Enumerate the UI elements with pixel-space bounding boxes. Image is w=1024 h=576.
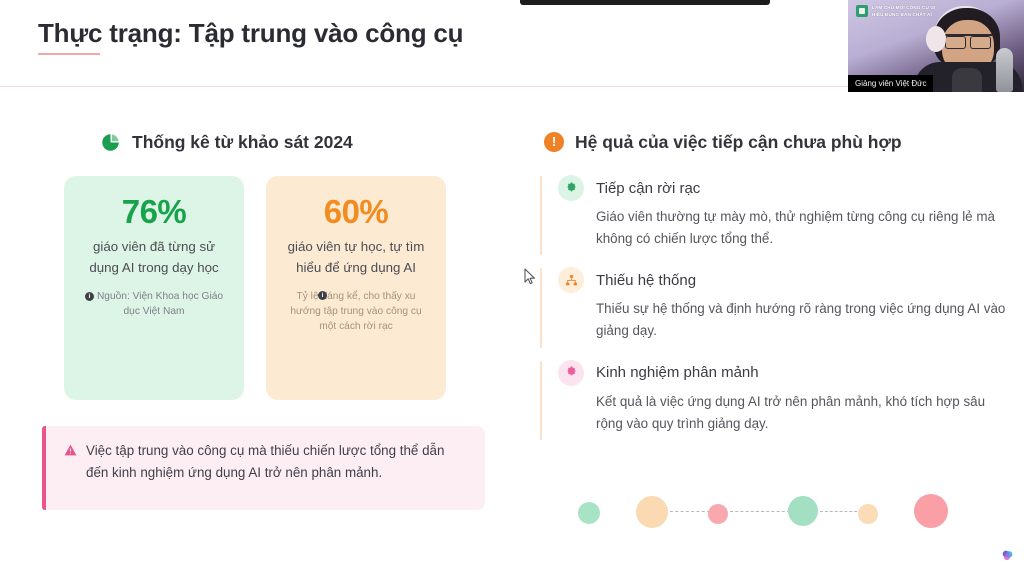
page-title: Thực trạng: Tập trung vào công cụ [38,18,463,55]
list-item-desc: Kết quả là việc ứng dụng AI trở nên phân… [596,391,1006,434]
presenter-name: Giảng viên Việt Đức [855,79,926,88]
mouse-pointer-icon [524,268,536,286]
app-logo-icon [856,5,868,17]
list-item: Kinh nghiệm phân mảnh Kết quả là việc ứn… [540,359,1006,434]
right-column: ! Hệ quả của việc tiếp cận chưa phù hợp … [536,122,1006,451]
stat-card-self-learning: 60% giáo viên tự học, tự tìm hiểu để ứng… [266,176,446,400]
left-column: Thống kê từ khảo sát 2024 76% giáo viên … [38,122,498,510]
list-item-desc: Thiếu sự hệ thống và định hướng rõ ràng … [596,298,1006,341]
slide-title-text: Thực trạng: Tập trung vào công cụ [38,18,463,49]
list-item: Tiếp cận rời rạc Giáo viên thường tự mày… [540,174,1006,249]
stat-note: iTỷ lệ đáng kể, cho thấy xu hướng tập tr… [282,289,430,335]
list-item-header: Thiếu hệ thống [558,266,1006,294]
webcam-overlay[interactable]: LÀM CHỦ MỌI CÔNG CỤ GI HIỂU ĐÚNG BẢN CHẤ… [848,0,1024,92]
list-item-title: Kinh nghiệm phân mảnh [596,364,759,381]
headphone-earcup [926,26,946,52]
decorative-dot [858,504,878,524]
decorative-dot [708,504,728,524]
exclamation-circle-icon: ! [544,132,564,152]
list-item-header: Kinh nghiệm phân mảnh [558,359,1006,387]
list-item: Thiếu hệ thống Thiếu sự hệ thống và định… [540,266,1006,341]
puzzle-piece-icon [558,175,584,201]
consequences-list: Tiếp cận rời rạc Giáo viên thường tự mày… [536,174,1006,434]
decorative-dot [788,496,818,526]
decorative-dot [914,494,948,528]
warning-text: Việc tập trung vào công cụ mà thiếu chiế… [86,440,469,494]
slide-canvas: Thực trạng: Tập trung vào công cụ LÀM CH… [0,0,1024,576]
decorative-connector [730,511,790,512]
stat-note: iNguồn: Viện Khoa học Giáo dục Việt Nam [80,289,228,320]
stat-note-text: Tỷ lệ đáng kể, cho thấy xu hướng tập tru… [290,291,421,333]
stat-value: 60% [282,194,430,230]
stat-value: 76% [80,194,228,230]
list-item-title: Thiếu hệ thống [596,272,696,289]
stat-label: giáo viên tự học, tự tìm hiểu để ứng dụn… [282,237,430,277]
consequences-heading: ! Hệ quả của việc tiếp cận chưa phù hợp [536,122,1006,162]
statistics-heading-text: Thống kê từ khảo sát 2024 [132,132,353,153]
webcam-banner: LÀM CHỦ MỌI CÔNG CỤ GI HIỂU ĐÚNG BẢN CHẤ… [856,4,936,18]
stat-card-ai-usage: 76% giáo viên đã từng sử dụng AI trong d… [64,176,244,400]
list-item-desc: Giáo viên thường tự mày mò, thử nghiệm t… [596,206,1006,249]
list-item-title: Tiếp cận rời rạc [596,180,700,197]
glasses-icon [944,34,992,46]
puzzle-piece-icon [558,360,584,386]
presenter-shirt [952,68,982,92]
info-icon: i [318,291,327,300]
title-underline [38,53,100,55]
sitemap-icon [558,267,584,293]
decorative-dots [560,488,980,536]
warning-callout: Việc tập trung vào công cụ mà thiếu chiế… [42,426,485,510]
decorative-connector [820,511,862,512]
list-item-header: Tiếp cận rời rạc [558,174,1006,202]
pie-chart-icon [100,132,121,153]
warning-triangle-icon [64,443,77,494]
info-icon: i [85,292,94,301]
decorative-dot [636,496,668,528]
webcam-banner-text: LÀM CHỦ MỌI CÔNG CỤ GI HIỂU ĐÚNG BẢN CHẤ… [872,4,936,18]
decorative-connector [670,511,710,512]
brand-mark-icon [1001,549,1014,562]
collapsed-toolbar[interactable] [520,0,770,5]
decorative-dot [578,502,600,524]
consequences-heading-text: Hệ quả của việc tiếp cận chưa phù hợp [575,132,902,153]
statistics-heading: Thống kê từ khảo sát 2024 [38,122,498,162]
presenter-name-bar: Giảng viên Việt Đức [848,75,933,92]
stat-card-row: 76% giáo viên đã từng sử dụng AI trong d… [38,176,498,400]
microphone-icon [996,48,1013,92]
stat-label: giáo viên đã từng sử dụng AI trong dạy h… [80,237,228,277]
stat-note-text: Nguồn: Viện Khoa học Giáo dục Việt Nam [97,291,223,317]
